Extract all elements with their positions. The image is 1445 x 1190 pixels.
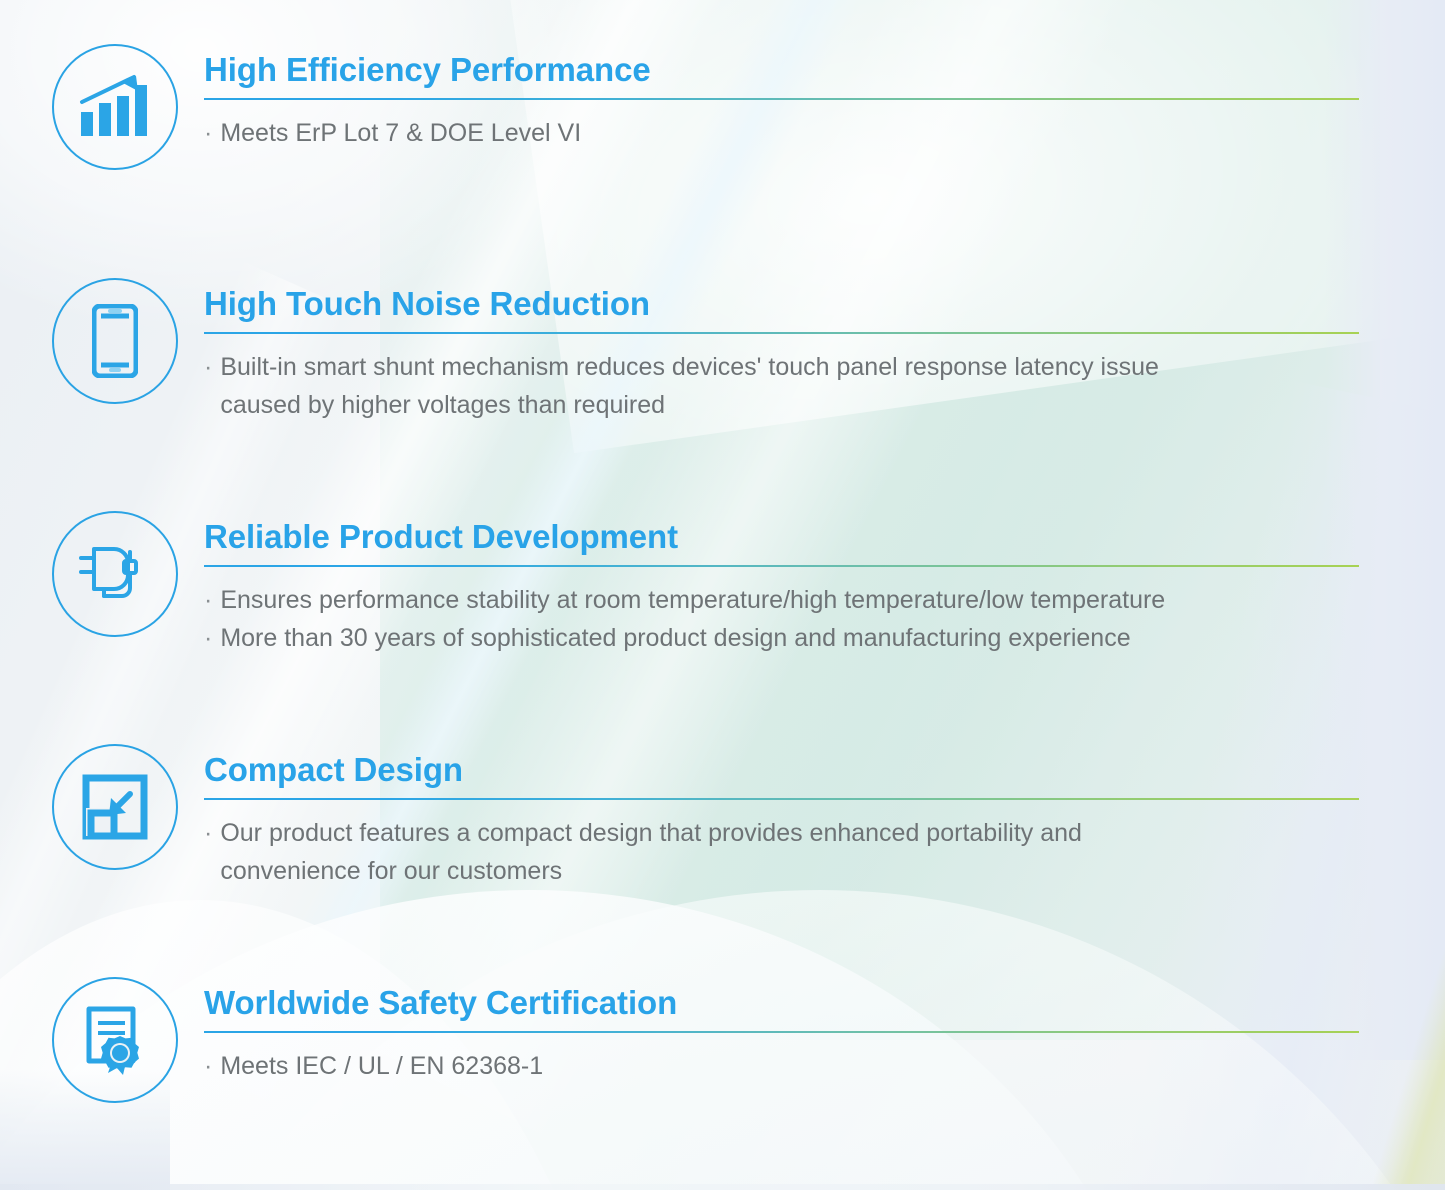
feature-title: Compact Design (204, 750, 1364, 790)
bullet-text: Built-in smart shunt mechanism reduces d… (220, 348, 1364, 424)
feature-title: Worldwide Safety Certification (204, 983, 1364, 1023)
feature-item-high-efficiency-performance: High Efficiency Performance · Meets ErP … (0, 44, 1364, 170)
bullet-marker: · (204, 581, 212, 619)
bullet-item: · Our product features a compact design … (204, 814, 1364, 890)
feature-item-worldwide-safety-certification: Worldwide Safety Certification · Meets I… (0, 977, 1364, 1103)
feature-divider (204, 98, 1359, 100)
feature-bullets: · Meets ErP Lot 7 & DOE Level VI (204, 114, 1364, 152)
feature-body: High Touch Noise Reduction · Built-in sm… (204, 278, 1364, 424)
feature-bullets: · Our product features a compact design … (204, 814, 1364, 890)
bullet-item: · Ensures performance stability at room … (204, 581, 1364, 619)
bullet-marker: · (204, 114, 212, 152)
feature-body: Reliable Product Development · Ensures p… (204, 511, 1364, 657)
bullet-marker: · (204, 348, 212, 424)
feature-title: High Touch Noise Reduction (204, 284, 1364, 324)
power-adapter-icon (52, 511, 178, 637)
smartphone-icon (52, 278, 178, 404)
bullet-text: Meets ErP Lot 7 & DOE Level VI (220, 114, 1364, 152)
feature-divider (204, 332, 1359, 334)
feature-title: High Efficiency Performance (204, 50, 1364, 90)
feature-body: Worldwide Safety Certification · Meets I… (204, 977, 1364, 1085)
feature-divider (204, 565, 1359, 567)
bullet-marker: · (204, 814, 212, 890)
feature-list-page: High Efficiency Performance · Meets ErP … (0, 0, 1445, 1190)
feature-body: High Efficiency Performance · Meets ErP … (204, 44, 1364, 152)
bullet-marker: · (204, 619, 212, 657)
feature-body: Compact Design · Our product features a … (204, 744, 1364, 890)
feature-bullets: · Built-in smart shunt mechanism reduces… (204, 348, 1364, 424)
bullet-text: Ensures performance stability at room te… (220, 581, 1364, 619)
feature-divider (204, 798, 1359, 800)
bullet-text: Meets IEC / UL / EN 62368-1 (220, 1047, 1364, 1085)
bullet-item: · Meets ErP Lot 7 & DOE Level VI (204, 114, 1364, 152)
feature-item-compact-design: Compact Design · Our product features a … (0, 744, 1364, 890)
feature-bullets: · Meets IEC / UL / EN 62368-1 (204, 1047, 1364, 1085)
bullet-marker: · (204, 1047, 212, 1085)
feature-divider (204, 1031, 1359, 1033)
bullet-item: · Built-in smart shunt mechanism reduces… (204, 348, 1364, 424)
bullet-text: More than 30 years of sophisticated prod… (220, 619, 1364, 657)
feature-item-reliable-product-development: Reliable Product Development · Ensures p… (0, 511, 1364, 657)
bullet-item: · Meets IEC / UL / EN 62368-1 (204, 1047, 1364, 1085)
certificate-seal-icon (52, 977, 178, 1103)
feature-item-high-touch-noise-reduction: High Touch Noise Reduction · Built-in sm… (0, 278, 1364, 424)
feature-title: Reliable Product Development (204, 517, 1364, 557)
bar-chart-growth-icon (52, 44, 178, 170)
feature-bullets: · Ensures performance stability at room … (204, 581, 1364, 657)
compact-resize-icon (52, 744, 178, 870)
bullet-text: Our product features a compact design th… (220, 814, 1364, 890)
bullet-item: · More than 30 years of sophisticated pr… (204, 619, 1364, 657)
